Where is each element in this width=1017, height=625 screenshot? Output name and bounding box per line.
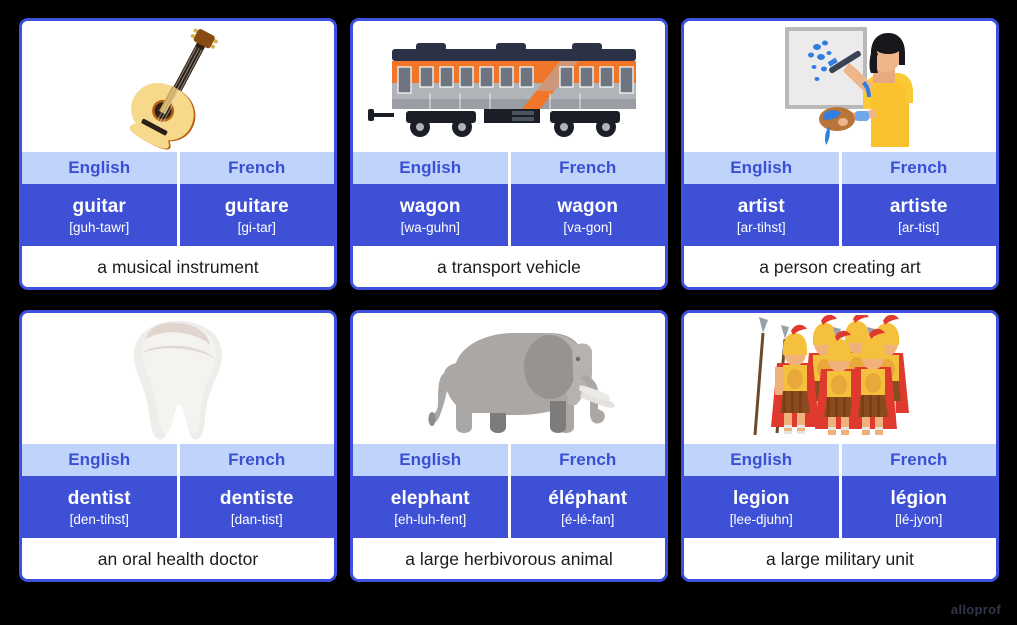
- language-header-row: English French: [22, 444, 334, 476]
- french-phonetic: [gi-tar]: [238, 219, 276, 237]
- english-phonetic: [eh-luh-fent]: [394, 511, 466, 529]
- english-word-cell: elephant [eh-luh-fent]: [353, 476, 508, 538]
- language-header-row: English French: [353, 444, 665, 476]
- definition-text: a musical instrument: [97, 257, 258, 278]
- flashcard-wagon[interactable]: English French wagon [wa-guhn] wagon [va…: [350, 18, 668, 290]
- english-word-cell: artist [ar-tihst]: [684, 184, 839, 246]
- english-phonetic: [den-tihst]: [70, 511, 129, 529]
- language-header-row: English French: [353, 152, 665, 184]
- definition-text: a person creating art: [759, 257, 921, 278]
- language-header-row: English French: [684, 444, 996, 476]
- definition-row: a large herbivorous animal: [353, 538, 665, 579]
- english-word-cell: guitar [guh-tawr]: [22, 184, 177, 246]
- language-header-row: English French: [22, 152, 334, 184]
- french-word-cell: éléphant [é-lé-fan]: [511, 476, 666, 538]
- flashcard-legion[interactable]: English French legion [lee-djuhn] légion…: [681, 310, 999, 582]
- english-word: guitar: [73, 196, 126, 218]
- definition-row: a person creating art: [684, 246, 996, 287]
- english-word-cell: legion [lee-djuhn]: [684, 476, 839, 538]
- english-word: wagon: [400, 196, 461, 218]
- english-word-cell: dentist [den-tihst]: [22, 476, 177, 538]
- artist-painting-illustration: [684, 21, 996, 152]
- definition-row: a transport vehicle: [353, 246, 665, 287]
- header-french: French: [180, 444, 335, 476]
- header-french: French: [842, 444, 997, 476]
- header-english: English: [22, 152, 177, 184]
- english-phonetic: [wa-guhn]: [401, 219, 460, 237]
- french-word-cell: légion [lé-jyon]: [842, 476, 997, 538]
- french-word: dentiste: [220, 488, 294, 510]
- elephant-illustration: [353, 313, 665, 444]
- english-phonetic: [guh-tawr]: [69, 219, 129, 237]
- french-word: artiste: [890, 196, 948, 218]
- flashcard-dentist[interactable]: English French dentist [den-tihst] denti…: [19, 310, 337, 582]
- header-french: French: [842, 152, 997, 184]
- flashcard-elephant[interactable]: English French elephant [eh-luh-fent] él…: [350, 310, 668, 582]
- french-word: légion: [890, 488, 947, 510]
- english-word: elephant: [391, 488, 470, 510]
- header-french: French: [511, 152, 666, 184]
- roman-legion-illustration: [684, 313, 996, 444]
- header-english: English: [353, 152, 508, 184]
- french-word-cell: wagon [va-gon]: [511, 184, 666, 246]
- flashcard-board: English French guitar [guh-tawr] guitare…: [0, 0, 1017, 625]
- french-word: éléphant: [548, 488, 627, 510]
- english-word: legion: [733, 488, 790, 510]
- language-header-row: English French: [684, 152, 996, 184]
- definition-text: a transport vehicle: [437, 257, 581, 278]
- word-row: wagon [wa-guhn] wagon [va-gon]: [353, 184, 665, 246]
- guitar-illustration: [22, 21, 334, 152]
- french-phonetic: [va-gon]: [563, 219, 612, 237]
- french-word: guitare: [225, 196, 289, 218]
- header-french: French: [180, 152, 335, 184]
- definition-text: an oral health doctor: [98, 549, 259, 570]
- word-row: guitar [guh-tawr] guitare [gi-tar]: [22, 184, 334, 246]
- word-row: elephant [eh-luh-fent] éléphant [é-lé-fa…: [353, 476, 665, 538]
- english-phonetic: [ar-tihst]: [737, 219, 786, 237]
- header-english: English: [684, 444, 839, 476]
- definition-row: a large military unit: [684, 538, 996, 579]
- train-wagon-illustration: [353, 21, 665, 152]
- tooth-illustration: [22, 313, 334, 444]
- definition-row: an oral health doctor: [22, 538, 334, 579]
- header-english: English: [684, 152, 839, 184]
- french-word-cell: guitare [gi-tar]: [180, 184, 335, 246]
- english-word: artist: [738, 196, 785, 218]
- english-phonetic: [lee-djuhn]: [730, 511, 793, 529]
- french-word-cell: artiste [ar-tist]: [842, 184, 997, 246]
- word-row: dentist [den-tihst] dentiste [dan-tist]: [22, 476, 334, 538]
- header-english: English: [22, 444, 177, 476]
- english-word-cell: wagon [wa-guhn]: [353, 184, 508, 246]
- word-row: artist [ar-tihst] artiste [ar-tist]: [684, 184, 996, 246]
- definition-row: a musical instrument: [22, 246, 334, 287]
- french-phonetic: [dan-tist]: [231, 511, 283, 529]
- french-phonetic: [é-lé-fan]: [561, 511, 614, 529]
- flashcard-guitar[interactable]: English French guitar [guh-tawr] guitare…: [19, 18, 337, 290]
- french-phonetic: [ar-tist]: [898, 219, 939, 237]
- flashcard-artist[interactable]: English French artist [ar-tihst] artiste…: [681, 18, 999, 290]
- definition-text: a large herbivorous animal: [405, 549, 613, 570]
- french-word-cell: dentiste [dan-tist]: [180, 476, 335, 538]
- word-row: legion [lee-djuhn] légion [lé-jyon]: [684, 476, 996, 538]
- french-phonetic: [lé-jyon]: [895, 511, 942, 529]
- header-english: English: [353, 444, 508, 476]
- header-french: French: [511, 444, 666, 476]
- flashcard-grid: English French guitar [guh-tawr] guitare…: [19, 18, 998, 582]
- alloprof-watermark: alloprof: [951, 602, 1001, 617]
- english-word: dentist: [68, 488, 131, 510]
- definition-text: a large military unit: [766, 549, 914, 570]
- french-word: wagon: [557, 196, 618, 218]
